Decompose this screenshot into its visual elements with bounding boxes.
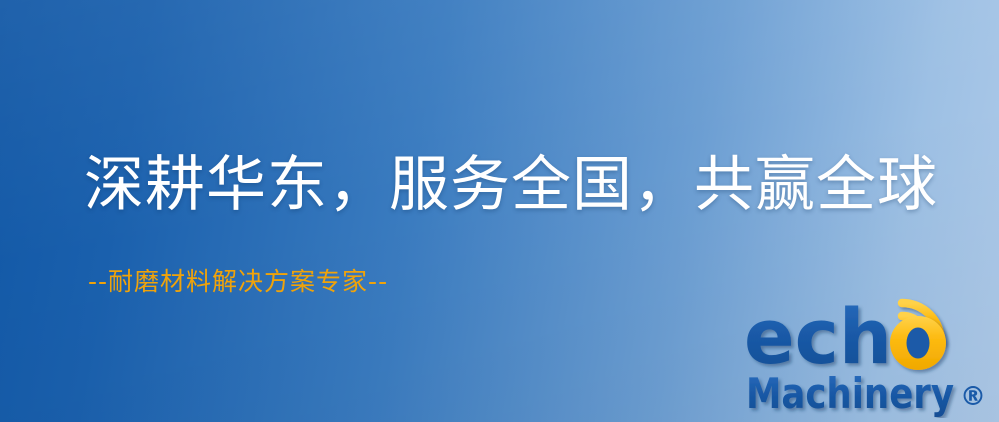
echo-machinery-logo[interactable]: ech Machinery ® [744, 292, 996, 418]
hero-banner: 深耕华东，服务全国，共赢全球 --耐磨材料解决方案专家-- [0, 0, 999, 422]
banner-headline: 深耕华东，服务全国，共赢全球 [84, 152, 938, 218]
registered-trademark-icon: ® [960, 382, 986, 412]
logo-ech-text: ech [744, 292, 892, 381]
banner-subtitle: --耐磨材料解决方案专家-- [88, 267, 388, 297]
logo-o-ring [890, 316, 946, 370]
logo-machinery-text: Machinery [746, 369, 954, 418]
